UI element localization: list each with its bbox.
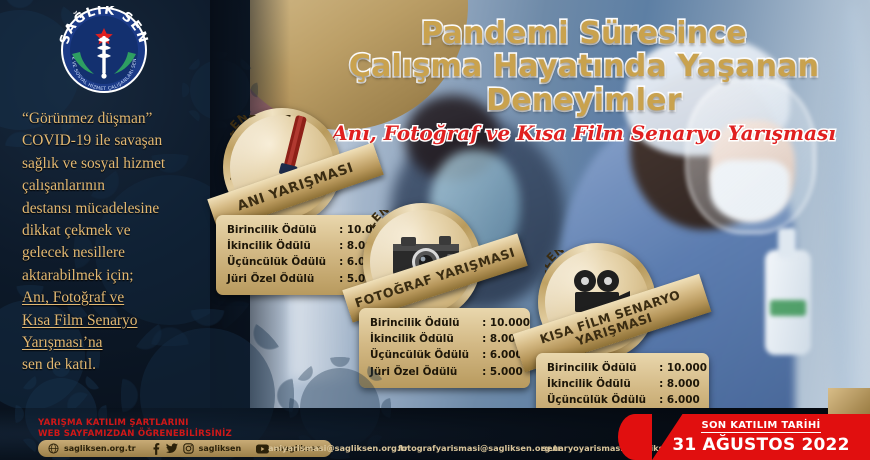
prize-label-third: Üçüncülük Ödülü bbox=[547, 392, 646, 408]
intro-line-9: Anı, Fotoğraf ve bbox=[22, 287, 227, 309]
gold-corner-accent bbox=[828, 388, 870, 414]
facebook-icon[interactable] bbox=[151, 443, 161, 455]
notice-line-1: YARIŞMA KATILIM ŞARTLARINI bbox=[38, 418, 232, 429]
website-label[interactable]: sagliksen.org.tr bbox=[64, 444, 136, 453]
badge3-prize-first: : 10.000 bbox=[646, 360, 707, 376]
email-fotograf[interactable]: fotografyarismasi@sagliksen.org.tr bbox=[398, 443, 561, 453]
globe-icon bbox=[48, 443, 59, 454]
email-ani[interactable]: aniyarismasi@sagliksen.org.tr bbox=[268, 443, 408, 453]
badge2-prize-table: Birincilik Ödülü : 10.000 İkincilik Ödül… bbox=[359, 308, 530, 388]
intro-line-1: “Görünmez düşman” bbox=[22, 108, 227, 130]
intro-line-3: sağlık ve sosyal hizmet bbox=[22, 153, 227, 175]
instagram-handle[interactable]: sagliksen bbox=[199, 444, 242, 453]
prize-label-third: Üçüncülük Ödülü bbox=[227, 254, 326, 270]
badge3-prize-second: : 8.000 bbox=[646, 376, 707, 392]
prize-label-first: Birincilik Ödülü bbox=[547, 360, 646, 376]
contest-badge-fotograf[interactable]: 3. GELENEKSEL FOTOĞRAF YARIŞMASI bbox=[345, 203, 525, 388]
prize-row: Üçüncülük Ödülü : 6.000 bbox=[370, 347, 530, 363]
contest-badge-kisa-film[interactable]: 3. GELENEKSEL KISA FİLM SENARYO YARIŞMAS… bbox=[518, 243, 708, 433]
intro-line-8: aktarabilmek için; bbox=[22, 265, 227, 287]
title-subtitle: Anı, Fotoğraf ve Kısa Film Senaryo Yarış… bbox=[300, 120, 868, 146]
participation-notice: YARIŞMA KATILIM ŞARTLARINI WEB SAYFAMIZD… bbox=[38, 418, 232, 440]
intro-line-4: çalışanlarının bbox=[22, 175, 227, 197]
prize-label-jury: Jüri Özel Ödülü bbox=[370, 364, 469, 380]
prize-row: İkincilik Ödülü : 8.000 bbox=[547, 376, 707, 392]
prize-label-first: Birincilik Ödülü bbox=[370, 315, 469, 331]
prize-row: İkincilik Ödülü : 8.000 bbox=[370, 331, 530, 347]
prize-label-second: İkincilik Ödülü bbox=[370, 331, 469, 347]
prize-label-jury: Jüri Özel Ödülü bbox=[227, 271, 326, 287]
title-line-1: Pandemi Süresince bbox=[300, 18, 868, 50]
intro-line-7: gelecek nesillere bbox=[22, 242, 227, 264]
prize-row: Birincilik Ödülü : 10.000 bbox=[370, 315, 530, 331]
prize-label-second: İkincilik Ödülü bbox=[227, 238, 326, 254]
deadline-label: SON KATILIM TARİHİ bbox=[701, 420, 820, 433]
prize-row: Üçüncülük Ödülü : 6.000 bbox=[547, 392, 707, 408]
intro-line-5: destansı mücadelesine bbox=[22, 198, 227, 220]
title-block: Pandemi Süresince Çalışma Hayatında Yaşa… bbox=[300, 18, 868, 146]
badge3-prize-third: : 6.000 bbox=[646, 392, 707, 408]
deadline-notch bbox=[618, 414, 652, 460]
prize-label-third: Üçüncülük Ödülü bbox=[370, 347, 469, 363]
deadline-banner: SON KATILIM TARİHİ 31 AĞUSTOS 2022 bbox=[652, 414, 870, 460]
sagliksen-logo: SAĞLIK SEN SAĞLIK VE SOSYAL HİZMET ÇALIŞ… bbox=[48, 6, 160, 84]
instagram-icon[interactable] bbox=[183, 443, 194, 454]
deadline-date: 31 AĞUSTOS 2022 bbox=[672, 435, 849, 455]
prize-label-second: İkincilik Ödülü bbox=[547, 376, 646, 392]
notice-line-2: WEB SAYFAMIZDAN ÖĞRENEBİLİRSİNİZ bbox=[38, 429, 232, 440]
intro-line-2: COVID-19 ile savaşan bbox=[22, 130, 227, 152]
prize-row: Jüri Özel Ödülü : 5.000 bbox=[370, 364, 530, 380]
poster-canvas: SAĞLIK SEN SAĞLIK VE SOSYAL HİZMET ÇALIŞ… bbox=[0, 0, 870, 460]
twitter-icon[interactable] bbox=[166, 443, 178, 454]
prize-row: Birincilik Ödülü : 10.000 bbox=[547, 360, 707, 376]
intro-line-6: dikkat çekmek ve bbox=[22, 220, 227, 242]
prize-label-first: Birincilik Ödülü bbox=[227, 222, 326, 238]
title-line-2: Çalışma Hayatında Yaşanan Deneyimler bbox=[300, 50, 868, 118]
